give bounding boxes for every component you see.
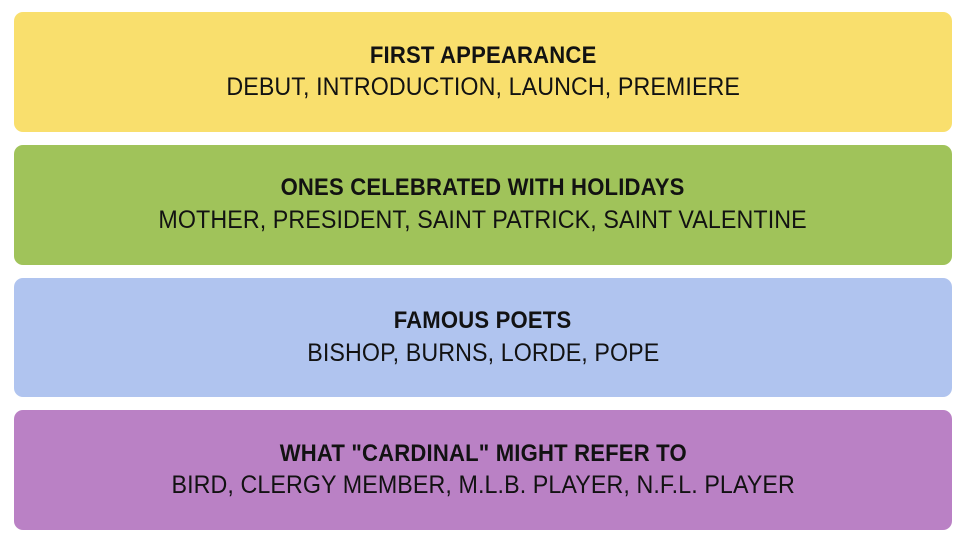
- category-title-yellow: FIRST APPEARANCE: [370, 42, 597, 70]
- connections-solution-board: FIRST APPEARANCE DEBUT, INTRODUCTION, LA…: [0, 0, 966, 541]
- category-card-blue[interactable]: FAMOUS POETS BISHOP, BURNS, LORDE, POPE: [14, 278, 952, 398]
- category-members-green: MOTHER, PRESIDENT, SAINT PATRICK, SAINT …: [159, 205, 807, 235]
- category-card-green[interactable]: ONES CELEBRATED WITH HOLIDAYS MOTHER, PR…: [14, 145, 952, 265]
- category-members-yellow: DEBUT, INTRODUCTION, LAUNCH, PREMIERE: [226, 72, 740, 102]
- category-card-purple[interactable]: WHAT "CARDINAL" MIGHT REFER TO BIRD, CLE…: [14, 410, 952, 530]
- category-members-purple: BIRD, CLERGY MEMBER, M.L.B. PLAYER, N.F.…: [171, 470, 794, 500]
- category-card-yellow[interactable]: FIRST APPEARANCE DEBUT, INTRODUCTION, LA…: [14, 12, 952, 132]
- category-members-blue: BISHOP, BURNS, LORDE, POPE: [307, 338, 659, 368]
- category-title-green: ONES CELEBRATED WITH HOLIDAYS: [281, 174, 685, 202]
- category-title-blue: FAMOUS POETS: [394, 307, 572, 335]
- category-title-purple: WHAT "CARDINAL" MIGHT REFER TO: [279, 440, 686, 468]
